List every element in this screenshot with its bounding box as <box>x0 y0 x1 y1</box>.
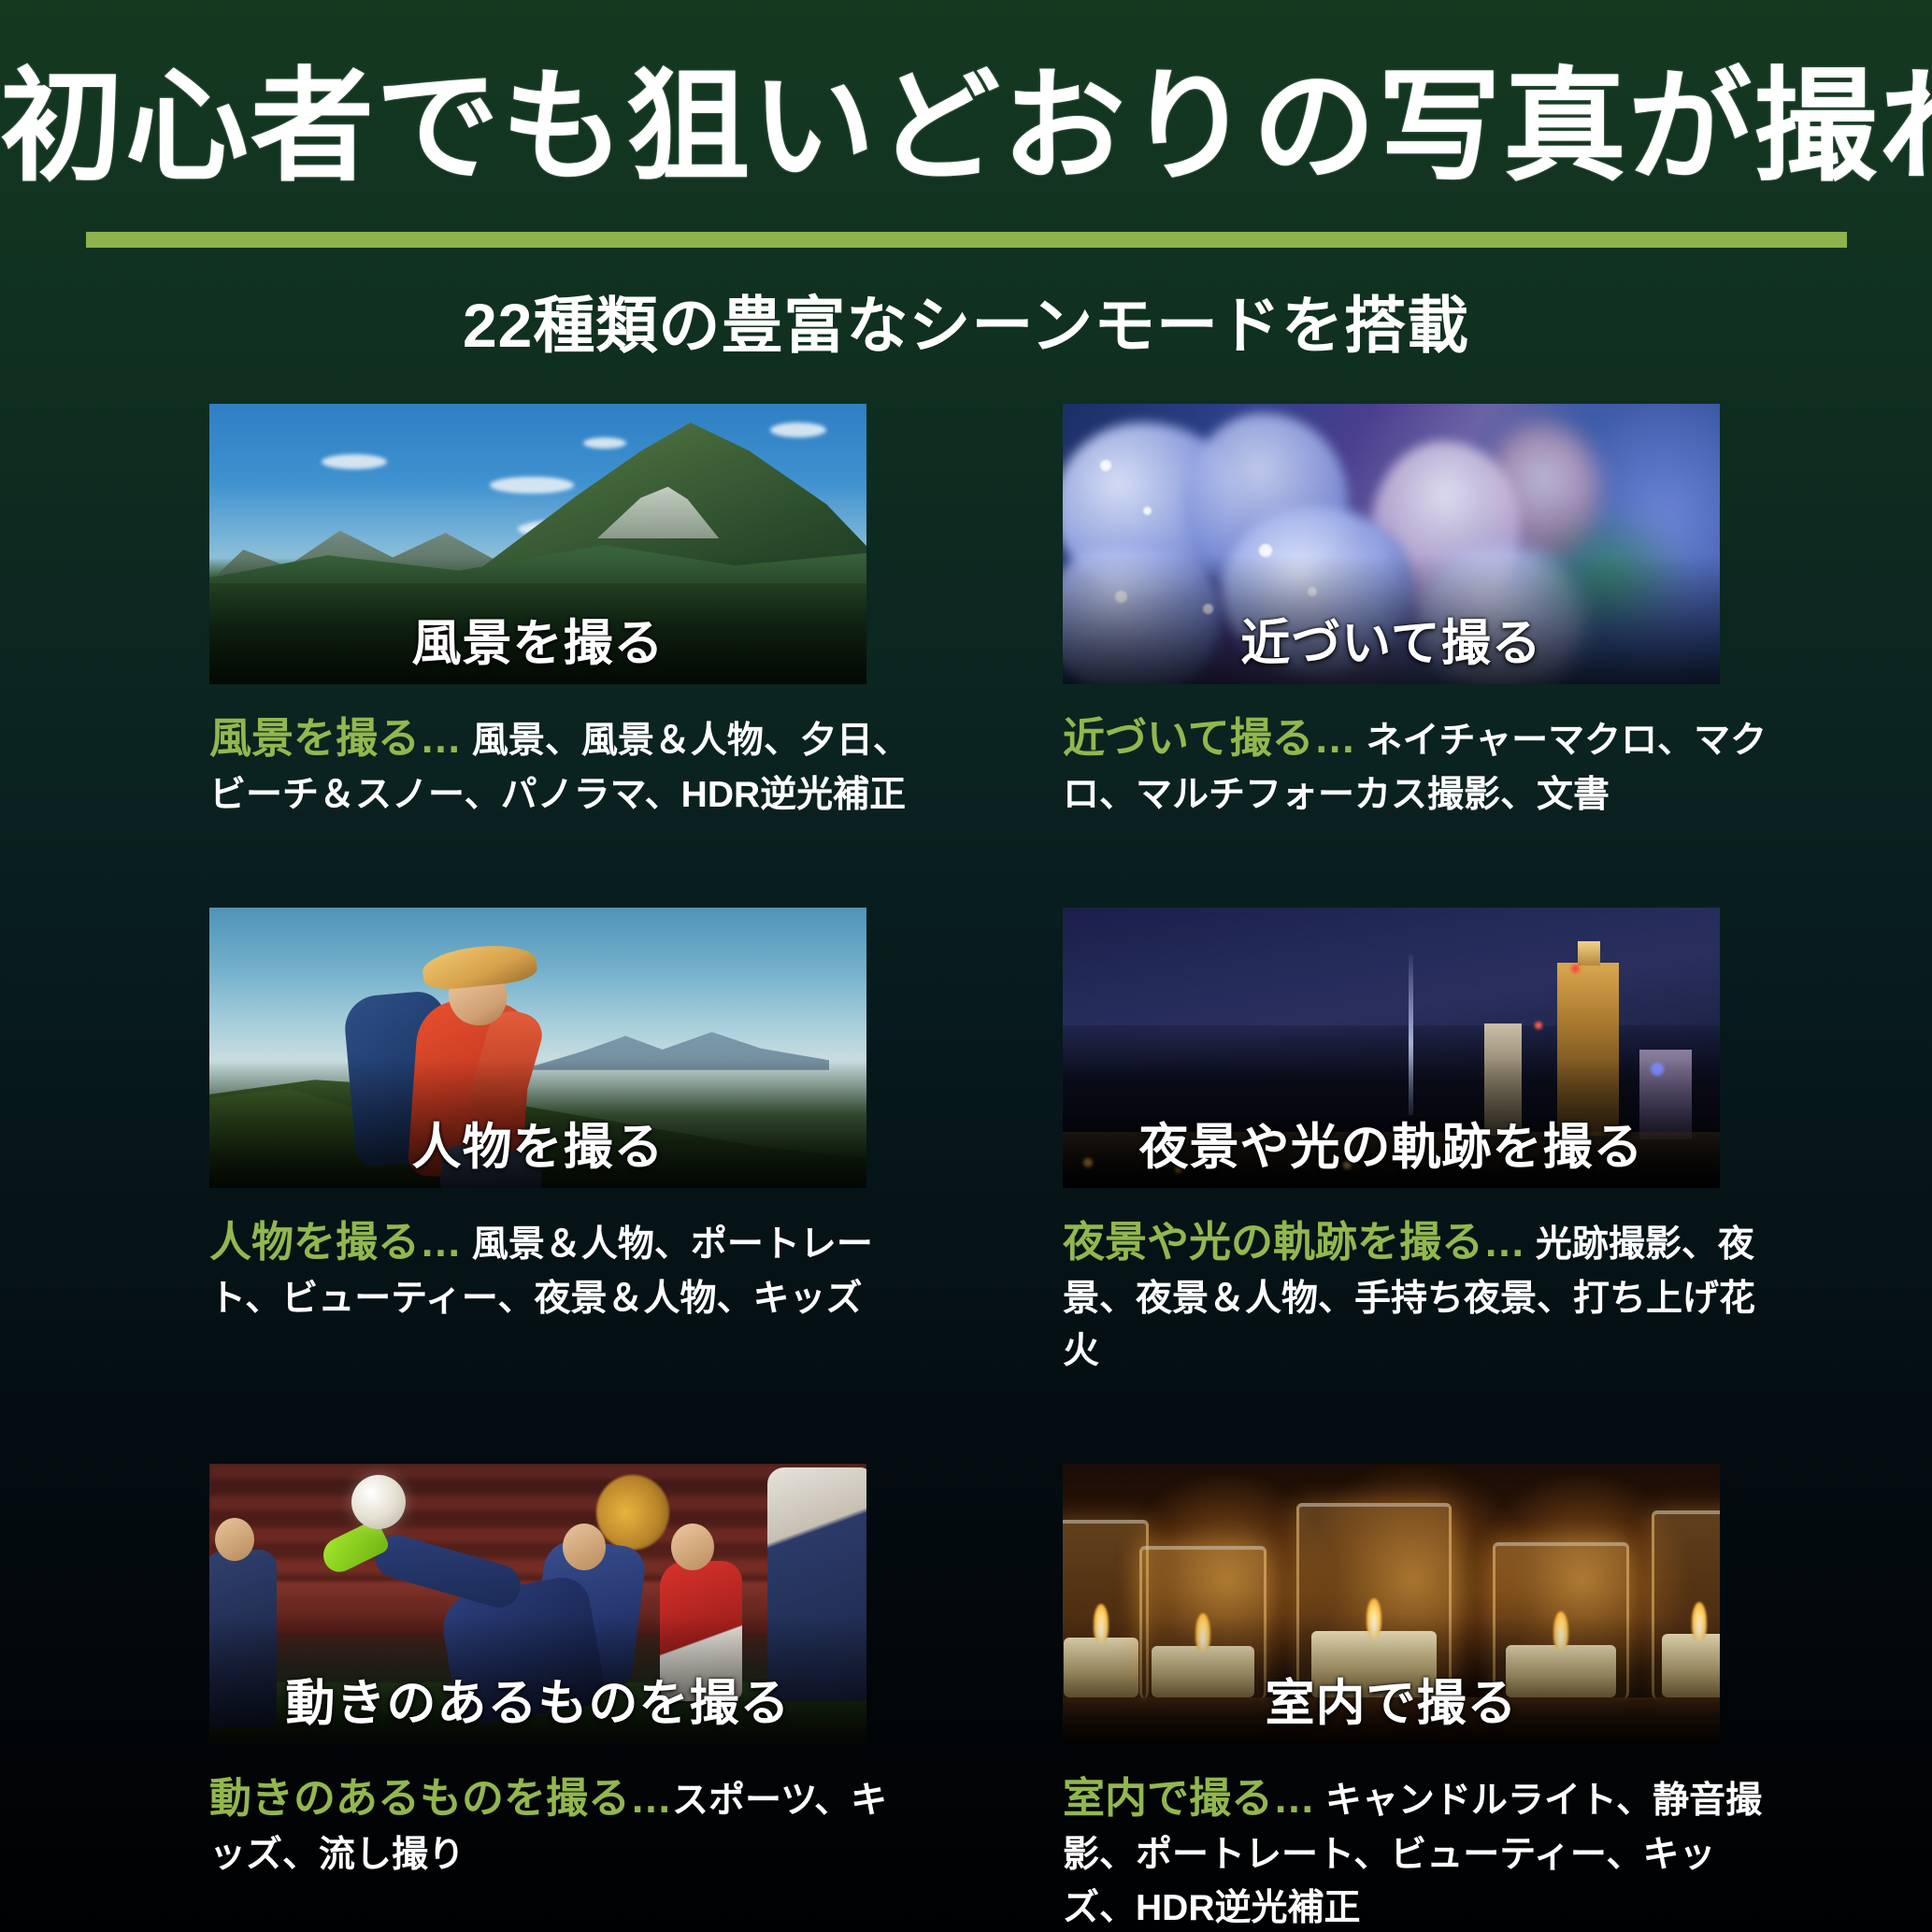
thumbnail-night[interactable]: 夜景や光の軌跡を撮る <box>1063 908 1720 1188</box>
thumbnail-indoor[interactable]: 室内で撮る <box>1063 1464 1720 1744</box>
card-caption: 動きのあるものを撮る…スポーツ、キッズ、流し撮り <box>209 1768 920 1882</box>
thumbnail-landscape[interactable]: 風景を撮る <box>209 404 866 684</box>
thumbnail-label: 夜景や光の軌跡を撮る <box>1063 1108 1720 1179</box>
grid-row: 人物を撮る 人物を撮る… 風景＆人物、ポートレート、ビューティー、夜景＆人物、キ… <box>209 908 1720 1378</box>
page-title: 初心者でも狙いどおりの写真が撮れる！ <box>0 54 1932 200</box>
thumbnail-label: 室内で撮る <box>1063 1664 1720 1735</box>
card-lead: 人物を撮る… <box>209 1218 462 1266</box>
thumbnail-macro[interactable]: 近づいて撮る <box>1063 404 1720 684</box>
scene-card-macro[interactable]: 近づいて撮る 近づいて撮る… ネイチャーマクロ、マクロ、マルチフォーカス撮影、文… <box>1063 404 1720 822</box>
card-lead: 近づいて撮る… <box>1063 714 1356 762</box>
page-subtitle: 22種類の豊富なシーンモードを搭載 <box>0 276 1932 365</box>
card-caption: 人物を撮る… 風景＆人物、ポートレート、ビューティー、夜景＆人物、キッズ <box>209 1212 920 1325</box>
thumbnail-label: 近づいて撮る <box>1063 604 1720 675</box>
promo-page: 初心者でも狙いどおりの写真が撮れる！ 22種類の豊富なシーンモードを搭載 <box>0 0 1932 1932</box>
card-lead: 夜景や光の軌跡を撮る… <box>1063 1218 1525 1266</box>
scene-card-sports[interactable]: 動きのあるものを撮る 動きのあるものを撮る…スポーツ、キッズ、流し撮り <box>209 1464 866 1932</box>
card-caption: 風景を撮る… 風景、風景＆人物、夕日、ビーチ＆スノー、パノラマ、HDR逆光補正 <box>209 708 920 822</box>
scene-mode-grid: 風景を撮る 風景を撮る… 風景、風景＆人物、夕日、ビーチ＆スノー、パノラマ、HD… <box>209 404 1720 1932</box>
thumbnail-portrait[interactable]: 人物を撮る <box>209 908 866 1188</box>
thumbnail-label: 風景を撮る <box>209 604 866 675</box>
scene-card-landscape[interactable]: 風景を撮る 風景を撮る… 風景、風景＆人物、夕日、ビーチ＆スノー、パノラマ、HD… <box>209 404 866 822</box>
thumbnail-sports[interactable]: 動きのあるものを撮る <box>209 1464 866 1744</box>
scene-card-indoor[interactable]: 室内で撮る 室内で撮る… キャンドルライト、静音撮影、ポートレート、ビューティー… <box>1063 1464 1720 1932</box>
grid-row: 動きのあるものを撮る 動きのあるものを撮る…スポーツ、キッズ、流し撮り <box>209 1464 1720 1932</box>
title-divider <box>86 232 1847 248</box>
scene-card-night[interactable]: 夜景や光の軌跡を撮る 夜景や光の軌跡を撮る… 光跡撮影、夜景、夜景＆人物、手持ち… <box>1063 908 1720 1378</box>
thumbnail-label: 人物を撮る <box>209 1108 866 1179</box>
card-lead: 風景を撮る… <box>209 714 462 762</box>
card-caption: 室内で撮る… キャンドルライト、静音撮影、ポートレート、ビューティー、キッズ、H… <box>1063 1768 1773 1932</box>
card-lead: 動きのあるものを撮る… <box>209 1774 672 1822</box>
card-caption: 夜景や光の軌跡を撮る… 光跡撮影、夜景、夜景＆人物、手持ち夜景、打ち上げ花火 <box>1063 1212 1773 1378</box>
thumbnail-label: 動きのあるものを撮る <box>209 1664 866 1735</box>
grid-row: 風景を撮る 風景を撮る… 風景、風景＆人物、夕日、ビーチ＆スノー、パノラマ、HD… <box>209 404 1720 822</box>
card-lead: 室内で撮る… <box>1063 1774 1315 1822</box>
card-caption: 近づいて撮る… ネイチャーマクロ、マクロ、マルチフォーカス撮影、文書 <box>1063 708 1773 822</box>
scene-card-portrait[interactable]: 人物を撮る 人物を撮る… 風景＆人物、ポートレート、ビューティー、夜景＆人物、キ… <box>209 908 866 1378</box>
